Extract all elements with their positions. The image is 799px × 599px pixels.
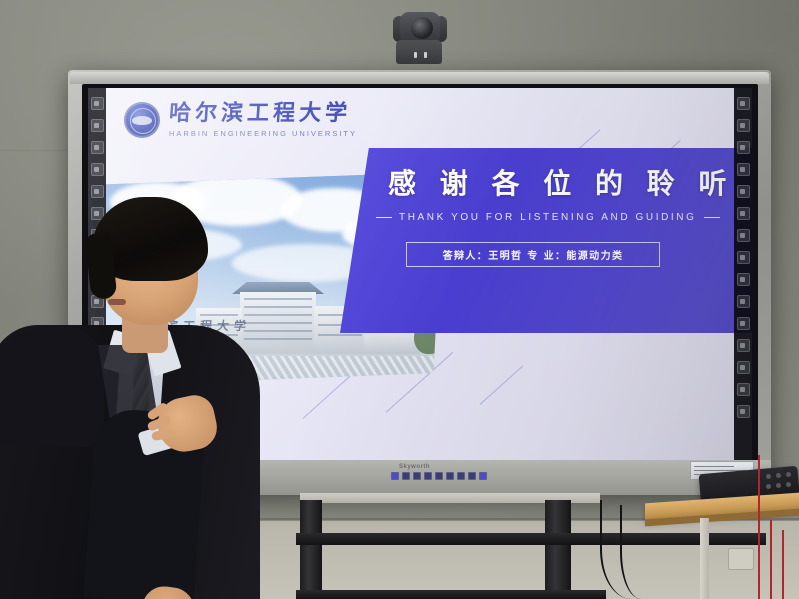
display-vol-down-button[interactable]: [424, 472, 432, 480]
camera-led: [414, 52, 417, 58]
camera-led: [424, 52, 427, 58]
volume-icon[interactable]: [91, 119, 104, 132]
banner-subtitle-en: THANK YOU FOR LISTENING AND GUIDING: [399, 212, 697, 223]
presenter-shoulder: [0, 327, 104, 447]
power-icon[interactable]: [737, 97, 750, 110]
dash-line-right: [704, 217, 720, 219]
display-vol-up-button[interactable]: [435, 472, 443, 480]
browser-icon[interactable]: [737, 229, 750, 242]
wall-panel-line: [0, 150, 70, 151]
classroom-scene: ptz-conference-camera 哈尔滨工程大学 HARBIN ENG…: [0, 0, 799, 599]
file-icon[interactable]: [737, 383, 750, 396]
keyboard-icon[interactable]: [737, 405, 750, 418]
volume-icon[interactable]: [737, 119, 750, 132]
power-icon[interactable]: [91, 97, 104, 110]
presenter-info-text: 答辩人：王明哲 专 业：能源动力类: [443, 247, 624, 262]
sticker-line: [694, 466, 734, 467]
wall-power-outlet: [728, 548, 754, 570]
display-pc-button[interactable]: [479, 472, 487, 480]
display-home-button[interactable]: [446, 472, 454, 480]
timer-icon[interactable]: [737, 295, 750, 308]
screenshot-icon[interactable]: [91, 141, 104, 154]
banner-subtitle-row: THANK YOU FOR LISTENING AND GUIDING: [376, 212, 752, 223]
display-menu-button[interactable]: [402, 472, 410, 480]
freeze-icon[interactable]: [737, 273, 750, 286]
display-button-row[interactable]: [391, 472, 487, 480]
stand-post-left: [300, 500, 322, 599]
camera-lens-icon: [411, 17, 433, 39]
annotate-icon[interactable]: [737, 251, 750, 264]
whiteboard-icon[interactable]: [737, 185, 750, 198]
camera-base-mount: [396, 40, 442, 64]
red-cable: [770, 520, 772, 599]
mixer-knob[interactable]: [766, 474, 771, 479]
display-brand-label: Skyworth: [399, 464, 430, 470]
display-power-button[interactable]: [391, 472, 399, 480]
decor-diagonal: [480, 365, 524, 405]
display-source-button[interactable]: [413, 472, 421, 480]
mixer-knob[interactable]: [766, 484, 771, 489]
presenter-info-box: 答辩人：王明哲 专 业：能源动力类: [406, 242, 660, 267]
photo-window-band: [318, 334, 362, 336]
display-back-button[interactable]: [457, 472, 465, 480]
display-top-bezel: [70, 72, 769, 84]
university-crest-icon: [124, 102, 160, 138]
stand-crossbar: [296, 533, 766, 545]
desk-leg: [700, 518, 709, 599]
screenshot-icon[interactable]: [737, 141, 750, 154]
wall-panel-line: [772, 120, 799, 121]
apps-icon[interactable]: [737, 207, 750, 220]
presenter: black-suit-white-shirt-striped-tie: [0, 175, 290, 599]
university-name-cn: 哈尔滨工程大学: [168, 102, 358, 126]
screen-toolbar-right[interactable]: [734, 88, 752, 462]
stand-lower-crossbar: [296, 590, 606, 599]
note-icon[interactable]: [737, 163, 750, 176]
stand-post-right: [545, 500, 571, 599]
red-cable: [782, 530, 784, 599]
display-settings-button[interactable]: [468, 472, 476, 480]
mixer-knob[interactable]: [786, 482, 791, 487]
settings-icon[interactable]: [737, 361, 750, 374]
presenter-mouth: [108, 299, 126, 305]
cast-icon[interactable]: [737, 339, 750, 352]
red-cable: [758, 455, 760, 599]
dash-line-left: [376, 217, 392, 219]
mixer-knob[interactable]: [786, 472, 791, 477]
university-name-en: HARBIN ENGINEERING UNIVERSITY: [169, 129, 357, 138]
mixer-knob[interactable]: [776, 473, 781, 478]
slide-header: 哈尔滨工程大学 HARBIN ENGINEERING UNIVERSITY: [124, 102, 357, 138]
university-name-block: 哈尔滨工程大学 HARBIN ENGINEERING UNIVERSITY: [169, 102, 357, 138]
banner-title-cn: 感 谢 各 位 的 聆 听 与 指 导: [388, 170, 752, 198]
mixer-knob[interactable]: [776, 483, 781, 488]
split-icon[interactable]: [737, 317, 750, 330]
